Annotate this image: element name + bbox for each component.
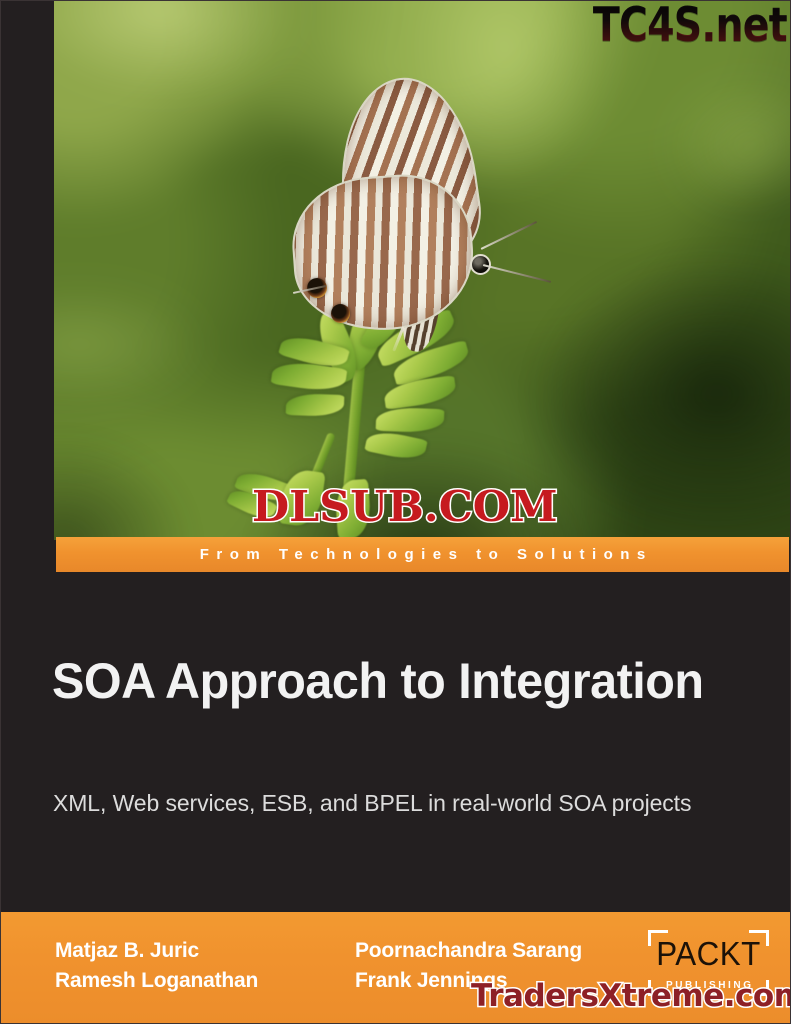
cover-photograph: [54, 0, 791, 540]
watermark-tradersxtreme: TradersXtreme.com: [471, 981, 791, 1012]
publisher-tagline-text: From Technologies to Solutions: [192, 546, 653, 563]
watermark-tc4s: TC4S.net: [593, 2, 787, 49]
author-name: Poornachandra Sarang: [355, 936, 582, 966]
author-column-left: Matjaz B. Juric Ramesh Loganathan: [55, 936, 258, 996]
publisher-tagline-band: From Technologies to Solutions: [56, 537, 789, 572]
title-block: SOA Approach to Integration XML, Web ser…: [0, 580, 791, 910]
book-subtitle: XML, Web services, ESB, and BPEL in real…: [53, 790, 691, 817]
book-title: SOA Approach to Integration: [52, 652, 704, 710]
author-name: Matjaz B. Juric: [55, 936, 258, 966]
watermark-dlsub: DLSUB.COM: [252, 486, 558, 528]
butterfly-illustration: [287, 78, 577, 343]
author-name: Ramesh Loganathan: [55, 966, 258, 996]
packt-wordmark: PACKT: [651, 935, 766, 973]
butterfly-hindwing: [288, 170, 478, 336]
book-cover: DLSUB.COM TC4S.net From Technologies to …: [0, 0, 791, 1024]
